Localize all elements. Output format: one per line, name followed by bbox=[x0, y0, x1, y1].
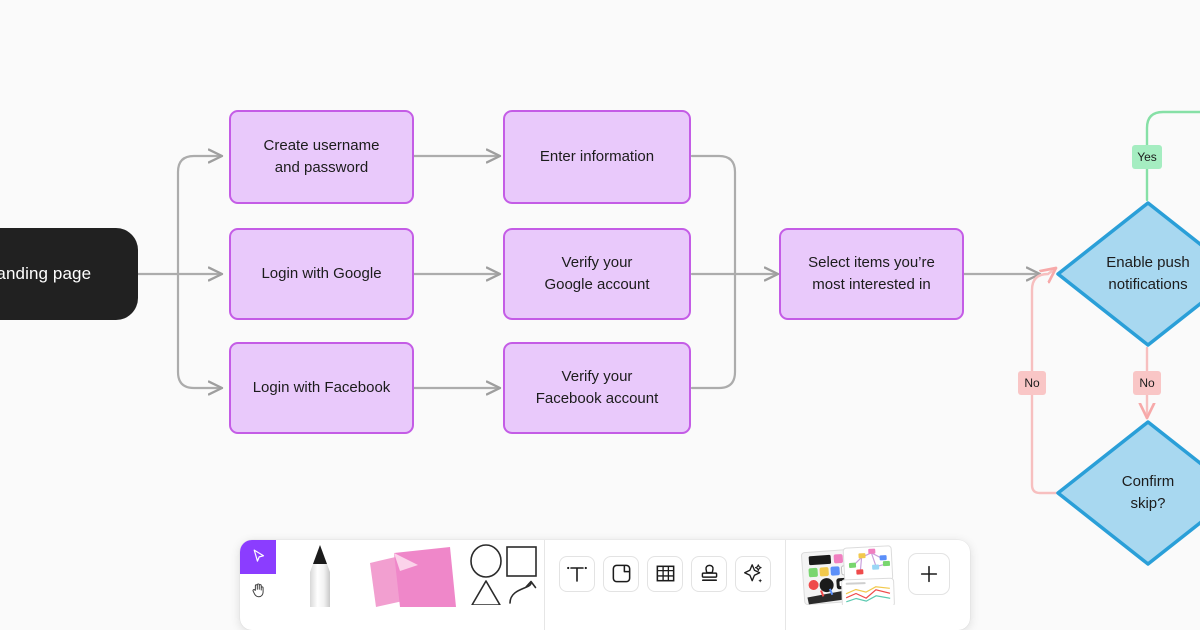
select-hand-pair bbox=[240, 540, 276, 607]
edge-label-text: Yes bbox=[1137, 150, 1157, 164]
table-icon bbox=[654, 562, 677, 585]
toolbar-group-content bbox=[545, 540, 785, 607]
node-confirm-skip[interactable]: Confirm skip? bbox=[1055, 419, 1200, 567]
node-login-facebook[interactable]: Login with Facebook bbox=[229, 342, 414, 434]
node-label: Verify your Google account bbox=[544, 252, 649, 296]
templates-tool[interactable] bbox=[798, 544, 898, 604]
node-label: Confirm skip? bbox=[1122, 471, 1175, 516]
hand-tool[interactable] bbox=[240, 574, 276, 608]
node-landing-page[interactable]: Landing page bbox=[0, 228, 138, 320]
pencil-icon bbox=[297, 541, 343, 607]
plus-icon bbox=[918, 563, 940, 585]
templates-icon bbox=[798, 543, 898, 605]
edge-label-text: No bbox=[1024, 376, 1039, 390]
node-select-items[interactable]: Select items you’re most interested in bbox=[779, 228, 964, 320]
node-label: Verify your Facebook account bbox=[536, 366, 659, 410]
node-login-google[interactable]: Login with Google bbox=[229, 228, 414, 320]
pen-tool[interactable] bbox=[276, 540, 364, 607]
edge-label-no-push[interactable]: No bbox=[1133, 371, 1161, 395]
table-tool[interactable] bbox=[647, 556, 683, 592]
stamp-icon bbox=[698, 562, 721, 585]
node-enter-information[interactable]: Enter information bbox=[503, 110, 691, 204]
node-verify-facebook[interactable]: Verify your Facebook account bbox=[503, 342, 691, 434]
edge-label-text: No bbox=[1139, 376, 1154, 390]
sticky-note-tool[interactable] bbox=[364, 540, 464, 607]
node-label: Login with Facebook bbox=[253, 377, 391, 399]
add-more-button[interactable] bbox=[908, 553, 950, 595]
whiteboard-canvas[interactable]: Landing page Create username and passwor… bbox=[0, 0, 1200, 630]
toolbar-group-templates bbox=[786, 540, 962, 607]
shapes-tool[interactable] bbox=[464, 540, 544, 607]
select-tool[interactable] bbox=[240, 540, 276, 574]
text-icon bbox=[565, 562, 589, 586]
node-create-username[interactable]: Create username and password bbox=[229, 110, 414, 204]
text-tool[interactable] bbox=[559, 556, 595, 592]
node-label: Enter information bbox=[540, 146, 654, 168]
stamp-tool[interactable] bbox=[691, 556, 727, 592]
node-verify-google[interactable]: Verify your Google account bbox=[503, 228, 691, 320]
node-label: Login with Google bbox=[261, 263, 381, 285]
node-label: Select items you’re most interested in bbox=[808, 252, 935, 296]
sparkle-icon bbox=[742, 562, 765, 585]
node-enable-push-notifications[interactable]: Enable push notifications bbox=[1055, 200, 1200, 348]
toolbar[interactable] bbox=[240, 540, 970, 630]
edge-label-yes[interactable]: Yes bbox=[1132, 145, 1162, 169]
node-label: Enable push notifications bbox=[1106, 252, 1189, 297]
hand-icon bbox=[249, 581, 267, 599]
ai-tool[interactable] bbox=[735, 556, 771, 592]
frame-icon bbox=[610, 562, 633, 585]
node-label: Landing page bbox=[0, 262, 91, 287]
node-label: Create username and password bbox=[264, 135, 380, 179]
toolbar-group-create bbox=[240, 540, 544, 607]
edge-label-no-confirm[interactable]: No bbox=[1018, 371, 1046, 395]
sticky-note-icon bbox=[366, 541, 462, 607]
cursor-icon bbox=[250, 548, 267, 565]
shapes-icon bbox=[469, 543, 539, 605]
frame-tool[interactable] bbox=[603, 556, 639, 592]
